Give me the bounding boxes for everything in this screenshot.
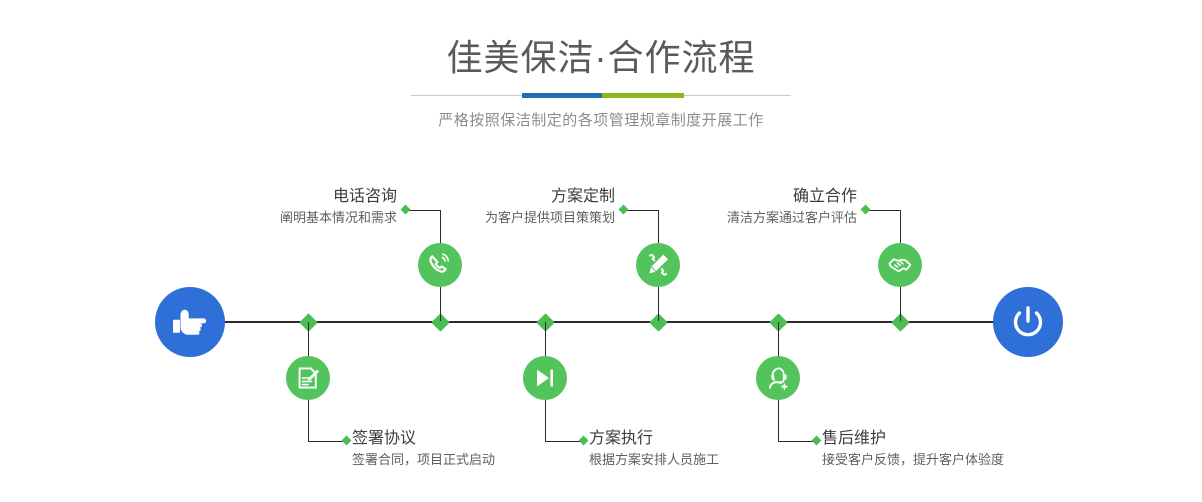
step-label-1: 电话咨询 阐明基本情况和需求 <box>152 186 397 228</box>
connector-step-4-horizontal <box>545 441 582 442</box>
step-label-3-desc: 为客户提供项目策策划 <box>372 208 615 228</box>
connector-step-4-vertical <box>545 400 546 441</box>
connector-step-1-vertical-lower <box>440 287 441 321</box>
step-label-3-title: 方案定制 <box>372 186 615 208</box>
step-node-5[interactable] <box>878 243 922 287</box>
step-label-6-title: 售后维护 <box>822 428 1122 450</box>
connector-step-2-vertical <box>308 400 309 441</box>
step-node-6[interactable] <box>756 356 800 400</box>
page-subtitle: 严格按照保洁制定的各项管理规章制度开展工作 <box>0 111 1202 131</box>
play-execute-icon <box>532 365 558 391</box>
step-label-1-desc: 阐明基本情况和需求 <box>152 208 397 228</box>
step-label-6: 售后维护 接受客户反馈，提升客户体验度 <box>822 428 1122 470</box>
divider-segment-green <box>602 93 684 98</box>
connector-step-3-vertical-lower <box>658 287 659 321</box>
process-flow-diagram: 佳美保洁·合作流程 严格按照保洁制定的各项管理规章制度开展工作 <box>0 0 1202 502</box>
connector-step-2-tip <box>342 436 352 446</box>
phone-call-icon <box>427 252 453 278</box>
power-icon <box>1008 302 1048 342</box>
end-endpoint[interactable] <box>993 287 1063 357</box>
step-label-5: 确立合作 清洁方案通过客户评估 <box>630 186 857 228</box>
handshake-icon <box>887 252 913 278</box>
step-node-3[interactable] <box>636 243 680 287</box>
step-label-3: 方案定制 为客户提供项目策策划 <box>372 186 615 228</box>
connector-step-4-vertical-upper <box>545 322 546 356</box>
connector-step-6-horizontal <box>778 441 815 442</box>
connector-step-5-horizontal <box>865 210 901 211</box>
connector-step-3-tip <box>619 205 629 215</box>
pencil-ruler-icon <box>645 252 671 278</box>
step-label-5-title: 确立合作 <box>630 186 857 208</box>
title-divider <box>411 92 791 100</box>
step-label-6-desc: 接受客户反馈，提升客户体验度 <box>822 450 1122 470</box>
connector-step-5-vertical <box>900 210 901 243</box>
connector-step-6-vertical <box>778 400 779 441</box>
connector-step-2-vertical-upper <box>308 322 309 356</box>
step-node-2[interactable] <box>286 356 330 400</box>
step-node-4[interactable] <box>523 356 567 400</box>
headset-support-icon <box>765 365 791 391</box>
step-label-1-title: 电话咨询 <box>152 186 397 208</box>
start-endpoint[interactable] <box>155 287 225 357</box>
step-label-5-desc: 清洁方案通过客户评估 <box>630 208 857 228</box>
divider-segment-blue <box>522 93 602 98</box>
pointing-hand-icon <box>170 305 210 339</box>
diagram-header: 佳美保洁·合作流程 严格按照保洁制定的各项管理规章制度开展工作 <box>0 0 1202 131</box>
connector-step-5-tip <box>861 205 871 215</box>
document-edit-icon <box>295 365 321 391</box>
step-node-1[interactable] <box>418 243 462 287</box>
connector-step-2-horizontal <box>308 441 345 442</box>
connector-step-5-vertical-lower <box>900 287 901 321</box>
page-title: 佳美保洁·合作流程 <box>0 36 1202 80</box>
connector-step-6-vertical-upper <box>778 322 779 356</box>
